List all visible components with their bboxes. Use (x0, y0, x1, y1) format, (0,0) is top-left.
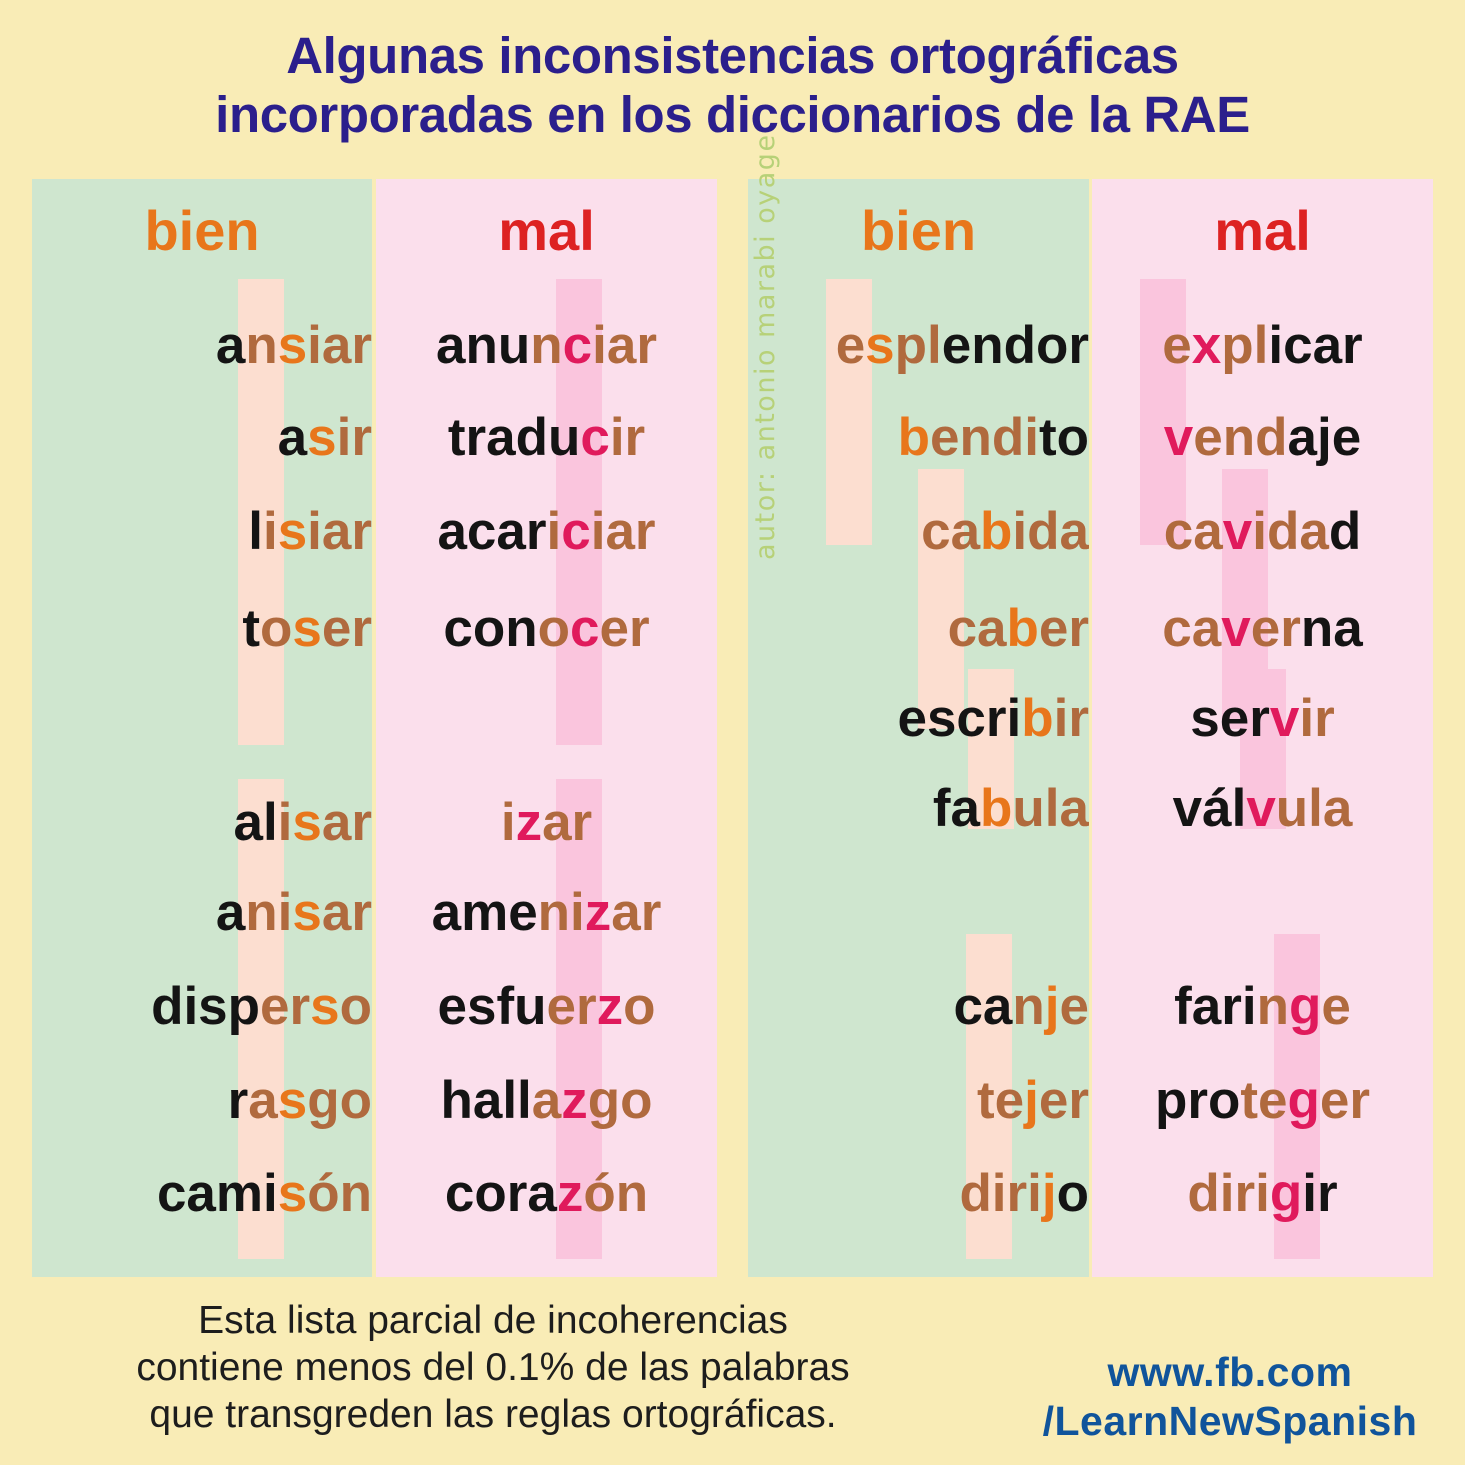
page-title: Algunas inconsistencias ortográficas inc… (0, 26, 1465, 144)
footer-note-line-2: contiene menos del 0.1% de las palabras (28, 1345, 958, 1392)
word-row: corazón (376, 1167, 717, 1220)
column-panel-mal-2: mal explicar vendaje cavidad caverna ser… (1092, 179, 1433, 1277)
word-row: dirigir (1092, 1167, 1433, 1220)
word-row: toser (32, 602, 372, 655)
column-heading-bien: bien (32, 203, 372, 259)
word-row: servir (1092, 692, 1433, 745)
word-row: disperso (32, 980, 372, 1033)
word-row: fabula (748, 782, 1089, 835)
word-row: traducir (376, 411, 717, 464)
word-row: anunciar (376, 319, 717, 372)
footer-note: Esta lista parcial de incoherencias cont… (28, 1298, 958, 1438)
word-row: camisón (32, 1167, 372, 1220)
word-row: caverna (1092, 602, 1433, 655)
column-heading-bien: bien (748, 203, 1089, 259)
word-row: escribir (748, 692, 1089, 745)
word-row: esfuerzo (376, 980, 717, 1033)
word-row: canje (748, 980, 1089, 1033)
word-row: alisar (32, 796, 372, 849)
word-row: tejer (748, 1074, 1089, 1127)
footer-note-line-1: Esta lista parcial de incoherencias (28, 1298, 958, 1345)
word-row: amenizar (376, 886, 717, 939)
word-row: cavidad (1092, 505, 1433, 558)
page-title-line-2: incorporadas en los diccionarios de la R… (0, 85, 1465, 144)
word-row: esplendor (748, 319, 1089, 372)
column-heading-mal: mal (376, 203, 717, 259)
facebook-link-path: /LearnNewSpanish (1000, 1397, 1460, 1446)
word-row: asir (32, 411, 372, 464)
word-row: vendaje (1092, 411, 1433, 464)
facebook-link[interactable]: www.fb.com /LearnNewSpanish (1000, 1348, 1460, 1446)
word-row: explicar (1092, 319, 1433, 372)
word-row: proteger (1092, 1074, 1433, 1127)
author-credit: autor: antonio marabi oyage (750, 133, 781, 560)
column-panel-bien-1: bien ansiar asir lisiar toser alisar ani… (32, 179, 372, 1277)
column-panel-mal-1: mal anunciar traducir acariciar conocer … (376, 179, 717, 1277)
word-row: hallazgo (376, 1074, 717, 1127)
word-row: ansiar (32, 319, 372, 372)
word-row: anisar (32, 886, 372, 939)
word-row: cabida (748, 505, 1089, 558)
word-row: caber (748, 602, 1089, 655)
word-row: acariciar (376, 505, 717, 558)
word-row: conocer (376, 602, 717, 655)
word-row: izar (376, 796, 717, 849)
word-row: dirijo (748, 1167, 1089, 1220)
column-panel-bien-2: bien esplendor bendito cabida caber escr… (748, 179, 1089, 1277)
facebook-link-domain: www.fb.com (1000, 1348, 1460, 1397)
word-row: rasgo (32, 1074, 372, 1127)
column-heading-mal: mal (1092, 203, 1433, 259)
word-row: bendito (748, 411, 1089, 464)
word-row: válvula (1092, 782, 1433, 835)
page-title-line-1: Algunas inconsistencias ortográficas (0, 26, 1465, 85)
word-row: faringe (1092, 980, 1433, 1033)
word-row: lisiar (32, 505, 372, 558)
footer-note-line-3: que transgreden las reglas ortográficas. (28, 1392, 958, 1439)
